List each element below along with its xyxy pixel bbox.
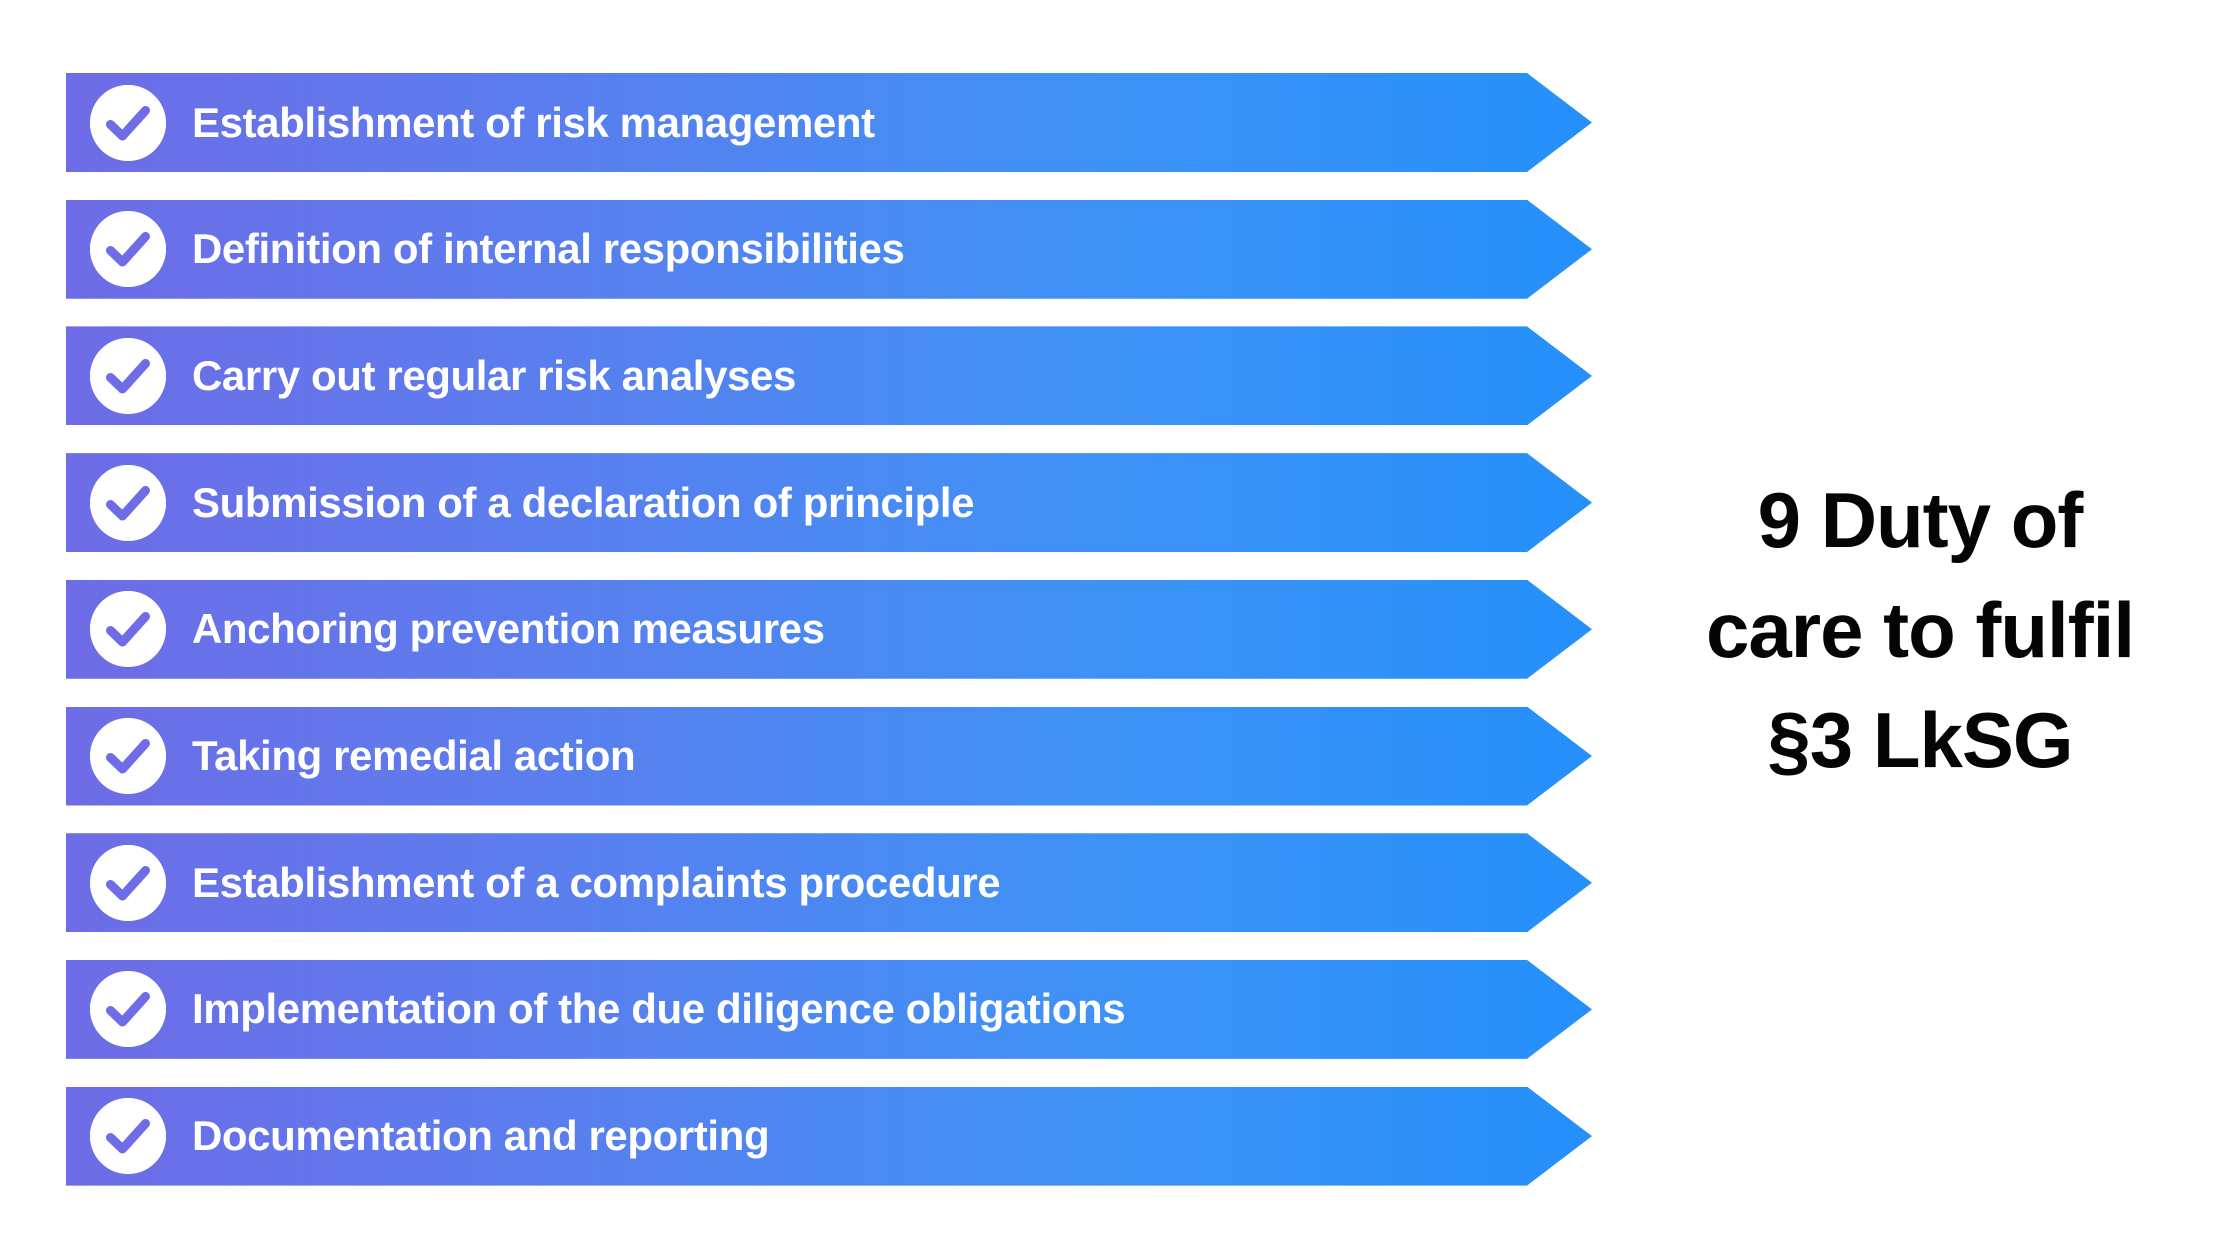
headline-block: 9 Duty ofcare to fulfil§3 LkSG: [1600, 0, 2240, 1260]
headline-line: 9 Duty of: [1758, 465, 2083, 575]
step-label: Submission of a declaration of principle: [192, 453, 974, 552]
check-circle-icon: [90, 465, 166, 541]
check-circle-icon: [90, 338, 166, 414]
step-label: Establishment of a complaints procedure: [192, 833, 1000, 932]
check-circle-icon: [90, 718, 166, 794]
step-content: Implementation of the due diligence obli…: [66, 960, 1592, 1059]
step-row[interactable]: Implementation of the due diligence obli…: [66, 960, 1592, 1059]
headline-line: care to fulfil: [1706, 575, 2134, 685]
step-content: Submission of a declaration of principle: [66, 453, 1592, 552]
step-content: Definition of internal responsibilities: [66, 200, 1592, 299]
check-circle-icon: [90, 1098, 166, 1174]
step-content: Taking remedial action: [66, 707, 1592, 806]
step-row[interactable]: Definition of internal responsibilities: [66, 200, 1592, 299]
step-label: Taking remedial action: [192, 707, 635, 806]
step-label: Implementation of the due diligence obli…: [192, 960, 1125, 1059]
step-content: Establishment of risk management: [66, 73, 1592, 172]
step-row[interactable]: Establishment of a complaints procedure: [66, 833, 1592, 932]
step-label: Definition of internal responsibilities: [192, 200, 904, 299]
infographic-canvas: Establishment of risk managementDefiniti…: [0, 0, 2240, 1260]
check-circle-icon: [90, 211, 166, 287]
check-circle-icon: [90, 591, 166, 667]
check-circle-icon: [90, 85, 166, 161]
step-label: Establishment of risk management: [192, 73, 875, 172]
step-content: Documentation and reporting: [66, 1087, 1592, 1186]
steps-list: Establishment of risk managementDefiniti…: [0, 0, 1600, 1260]
step-content: Establishment of a complaints procedure: [66, 833, 1592, 932]
step-row[interactable]: Carry out regular risk analyses: [66, 326, 1592, 425]
headline-line: §3 LkSG: [1767, 685, 2072, 795]
step-row[interactable]: Anchoring prevention measures: [66, 580, 1592, 679]
step-label: Documentation and reporting: [192, 1087, 769, 1186]
step-content: Carry out regular risk analyses: [66, 326, 1592, 425]
step-content: Anchoring prevention measures: [66, 580, 1592, 679]
step-row[interactable]: Establishment of risk management: [66, 73, 1592, 172]
step-row[interactable]: Documentation and reporting: [66, 1087, 1592, 1186]
step-row[interactable]: Submission of a declaration of principle: [66, 453, 1592, 552]
step-row[interactable]: Taking remedial action: [66, 707, 1592, 806]
check-circle-icon: [90, 971, 166, 1047]
step-label: Anchoring prevention measures: [192, 580, 825, 679]
check-circle-icon: [90, 845, 166, 921]
step-label: Carry out regular risk analyses: [192, 326, 796, 425]
